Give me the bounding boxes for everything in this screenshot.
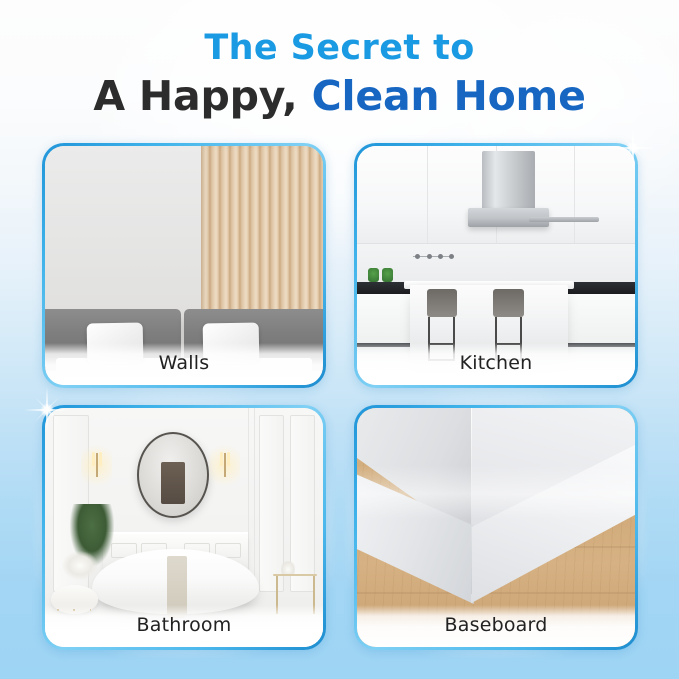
kitchen-rail-hook	[427, 254, 432, 259]
bathroom-flower-vase	[62, 551, 98, 580]
card-label-kitchen: Kitchen	[357, 343, 635, 385]
page-heading: The Secret to A Happy, Clean Home	[0, 0, 679, 118]
bathroom-mirror-reflection	[161, 462, 186, 505]
bathroom-wall-molding	[254, 408, 256, 594]
card-bathroom-image: Bathroom	[45, 408, 323, 647]
card-kitchen[interactable]: Kitchen	[354, 143, 638, 388]
bathroom-wall-sconce	[217, 453, 231, 477]
kitchen-cabinet-seam	[574, 146, 575, 243]
kitchen-hood-rail	[529, 217, 599, 222]
card-bathroom-frame: Bathroom	[42, 405, 326, 650]
card-label-baseboard: Baseboard	[357, 605, 635, 647]
card-label-bathroom: Bathroom	[45, 605, 323, 647]
headline-line-2-accent-text: Clean Home	[312, 72, 586, 120]
card-baseboard[interactable]: Baseboard	[354, 405, 638, 650]
stool-backrest	[493, 289, 524, 316]
sconce-bulb	[227, 452, 230, 466]
side-table-top	[273, 574, 317, 577]
feature-card-grid: Walls	[42, 143, 638, 650]
headline-line-2-dark-text: A Happy,	[93, 72, 311, 120]
sconce-bulb	[220, 452, 223, 466]
card-kitchen-frame: Kitchen	[354, 143, 638, 388]
sconce-stem	[96, 453, 98, 477]
kitchen-rail-hook	[449, 254, 454, 259]
kitchen-potted-plant	[368, 268, 379, 282]
headline-line-1: The Secret to	[0, 30, 679, 67]
kitchen-rail-hook	[438, 254, 443, 259]
card-baseboard-frame: Baseboard	[354, 405, 638, 650]
card-walls-frame: Walls	[42, 143, 326, 388]
stool-backrest	[427, 289, 458, 316]
baseboard-corner-edge	[471, 408, 473, 594]
bathroom-wall-molding	[248, 408, 250, 594]
card-kitchen-image: Kitchen	[357, 146, 635, 385]
sconce-bulb	[92, 452, 95, 466]
bathroom-wall-sconce	[89, 453, 103, 477]
headline-line-2: A Happy, Clean Home	[0, 74, 679, 118]
side-table-vase	[281, 561, 295, 575]
card-label-walls: Walls	[45, 343, 323, 385]
kitchen-cabinet-seam	[427, 146, 428, 243]
kitchen-potted-plant	[382, 268, 393, 282]
sconce-stem	[224, 453, 226, 477]
card-bathroom[interactable]: Bathroom	[42, 405, 326, 650]
bathroom-round-mirror	[137, 432, 209, 518]
card-walls-image: Walls	[45, 146, 323, 385]
card-baseboard-image: Baseboard	[357, 408, 635, 647]
card-walls[interactable]: Walls	[42, 143, 326, 388]
kitchen-range-hood-duct	[482, 151, 535, 213]
